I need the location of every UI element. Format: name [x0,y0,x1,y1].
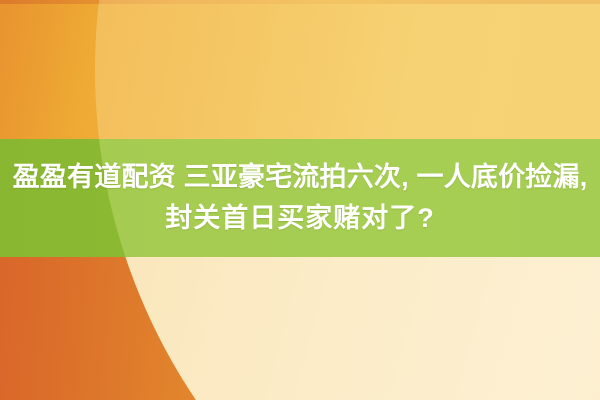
top-band-arc-highlight [0,0,600,139]
promotional-banner: 盈盈有道配资 三亚豪宅流拍六次, 一人底价捡漏, 封关首日买家赌对了? [0,0,600,400]
headline-line-1: 盈盈有道配资 三亚豪宅流拍六次, 一人底价捡漏, [13,157,588,198]
headline-block: 盈盈有道配资 三亚豪宅流拍六次, 一人底价捡漏, 封关首日买家赌对了? [0,139,600,257]
headline-line-2: 封关首日买家赌对了? [165,198,435,239]
cream-arc-swoosh [0,257,600,400]
